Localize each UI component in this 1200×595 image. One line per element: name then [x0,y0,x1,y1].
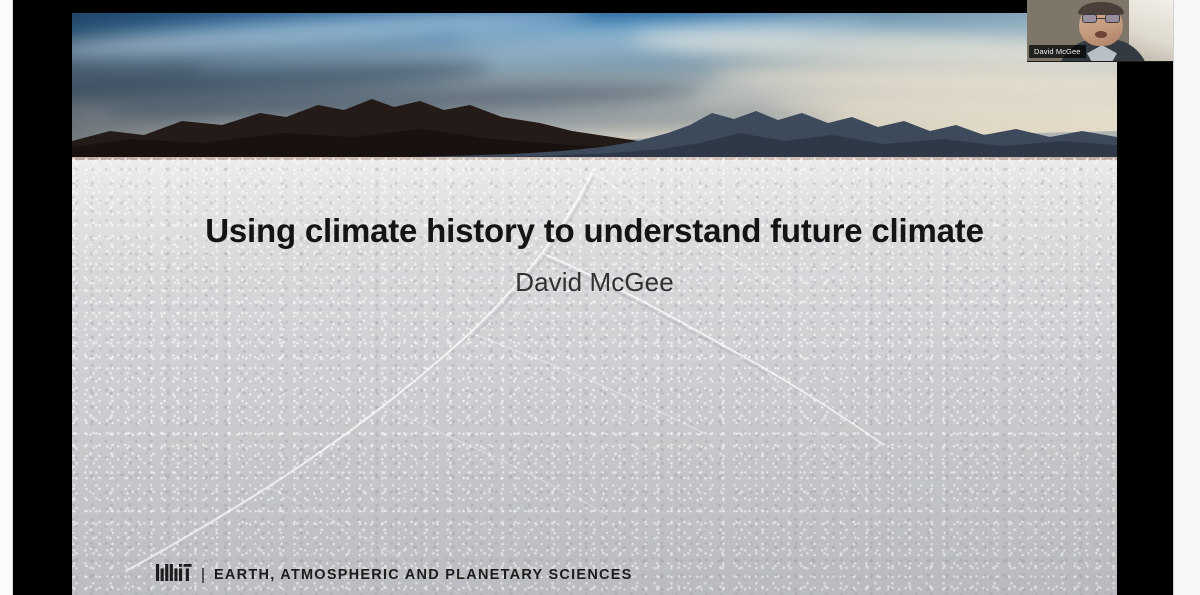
presentation-viewer: Using climate history to understand futu… [0,0,1200,595]
slide-background-mountains [72,13,1117,163]
glasses-lens-left [1082,14,1097,23]
mit-logo-icon [156,564,192,586]
page-gutter-left [0,0,13,595]
page-gutter-right [1173,0,1200,595]
glasses-icon [1082,14,1120,23]
footer-divider [202,568,204,583]
slide-canvas[interactable]: Using climate history to understand futu… [72,13,1117,595]
webcam-tile[interactable]: David McGee [1027,0,1173,62]
webcam-mouth [1095,31,1107,38]
glasses-bridge [1097,18,1105,20]
slide-author: David McGee [72,267,1117,298]
slide-title-block: Using climate history to understand futu… [72,211,1117,298]
participant-name-label: David McGee [1029,45,1086,58]
glasses-lens-right [1105,14,1120,23]
slide-footer: EARTH, ATMOSPHERIC AND PLANETARY SCIENCE… [156,564,633,586]
department-name: EARTH, ATMOSPHERIC AND PLANETARY SCIENCE… [214,567,633,583]
page-title: Using climate history to understand futu… [72,211,1117,251]
